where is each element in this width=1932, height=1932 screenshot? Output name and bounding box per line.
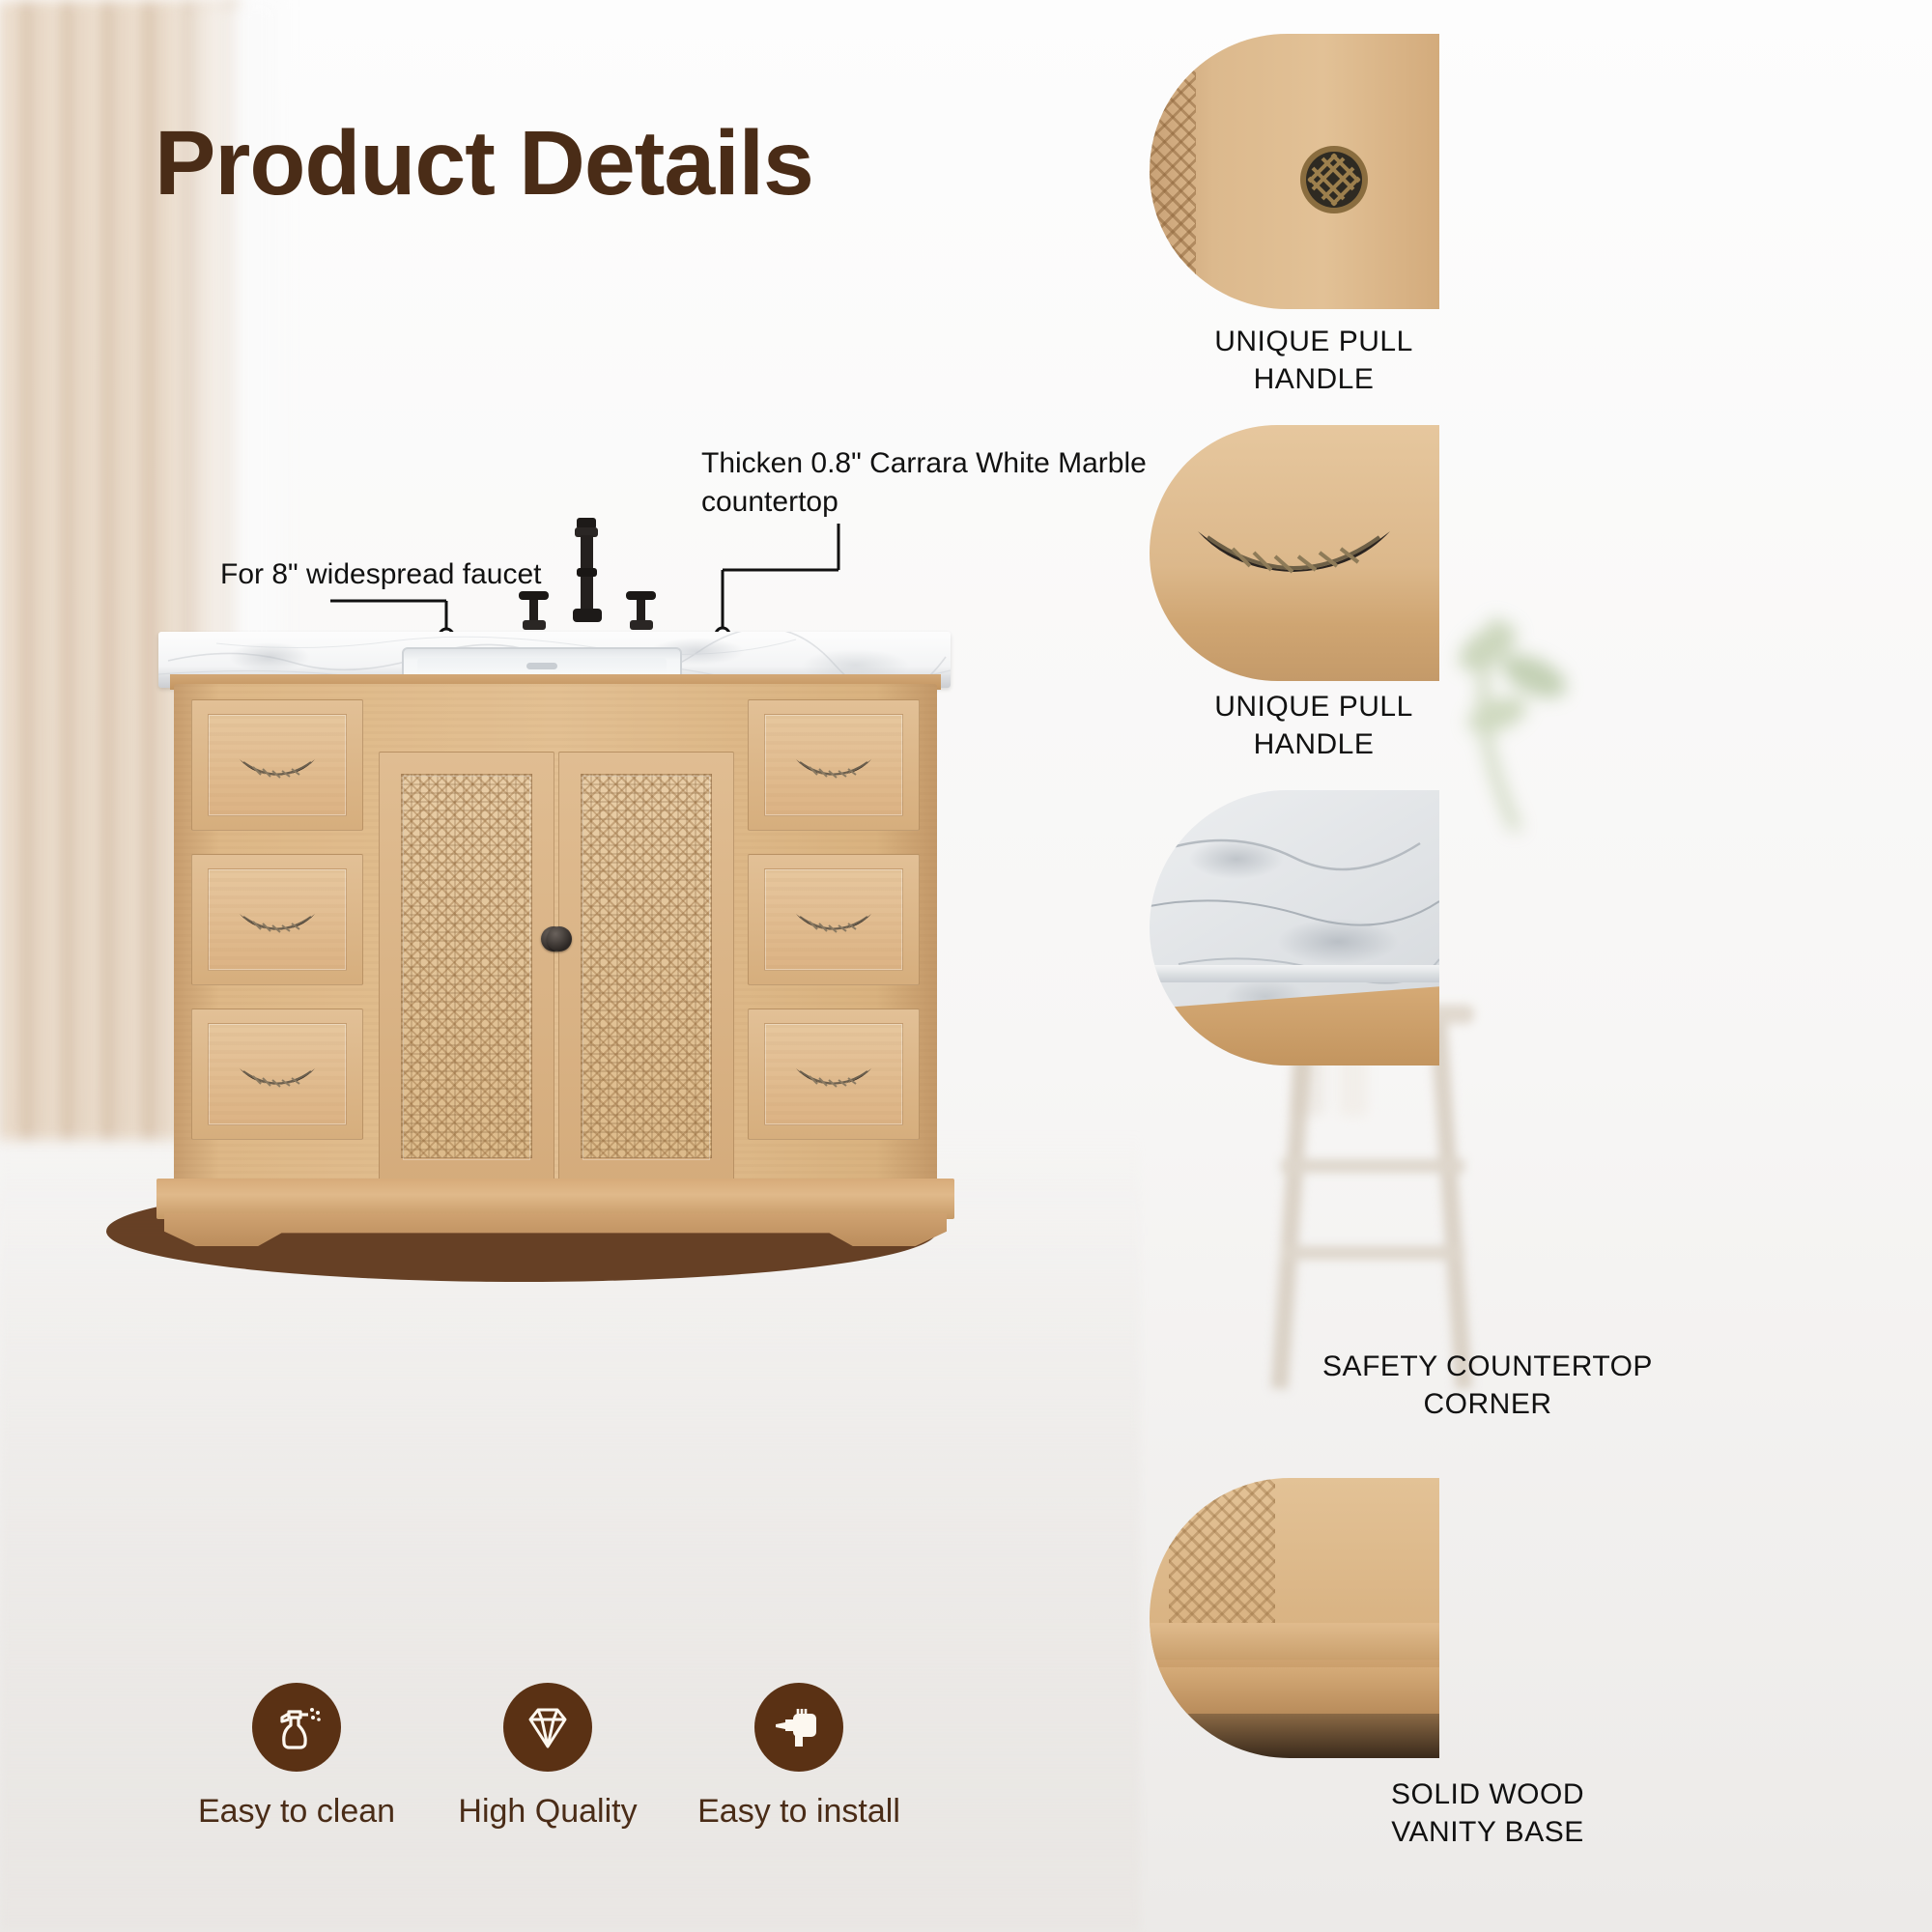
detail-label-knob: UNIQUE PULL HANDLE <box>1150 323 1478 398</box>
callout-label-countertop: Thicken 0.8" Carrara White Marble counte… <box>701 444 1155 521</box>
cup-pull-handle-icon[interactable] <box>236 753 319 786</box>
page-title: Product Details <box>155 118 813 210</box>
feature-easy-to-install: Easy to install <box>688 1683 910 1831</box>
drawer-right-1[interactable] <box>748 699 920 831</box>
feature-high-quality: High Quality <box>437 1683 659 1831</box>
detail-label-vanity-base: SOLID WOOD VANITY BASE <box>1101 1776 1874 1851</box>
cup-pull-handle-icon <box>1190 520 1398 595</box>
cup-pull-handle-icon[interactable] <box>792 908 875 941</box>
door-bevel <box>573 766 720 1170</box>
feature-label: Easy to clean <box>185 1793 408 1831</box>
detail-label-countertop-corner: SAFETY COUNTERTOP CORNER <box>1101 1348 1874 1423</box>
feature-label: Easy to install <box>688 1793 910 1831</box>
cup-pull-handle-icon[interactable] <box>792 1063 875 1095</box>
detail-label-cup-pull: UNIQUE PULL HANDLE <box>1150 688 1478 763</box>
faucet <box>517 510 662 636</box>
feature-easy-to-clean: Easy to clean <box>185 1683 408 1831</box>
drawer-left-1[interactable] <box>191 699 363 831</box>
feature-label: High Quality <box>437 1793 659 1831</box>
feature-icon-circle <box>503 1683 592 1772</box>
detail-image-countertop-corner <box>1150 790 1439 1065</box>
cabinet-door-left[interactable] <box>379 752 554 1198</box>
door-bevel <box>393 766 540 1170</box>
drawer-right-2[interactable] <box>748 854 920 985</box>
spray-bottle-icon <box>270 1700 324 1754</box>
feature-icon-circle <box>754 1683 843 1772</box>
feature-icon-circle <box>252 1683 341 1772</box>
detail-image-vanity-base <box>1150 1478 1439 1758</box>
detail-image-cup-pull <box>1150 425 1439 681</box>
product-vanity <box>145 626 961 1273</box>
cup-pull-handle-icon[interactable] <box>236 908 319 941</box>
drawer-left-2[interactable] <box>191 854 363 985</box>
cabinet-body <box>174 684 937 1181</box>
diamond-icon <box>521 1700 575 1754</box>
cabinet-door-right[interactable] <box>558 752 734 1198</box>
cup-pull-handle-icon[interactable] <box>792 753 875 786</box>
drawer-left-3[interactable] <box>191 1009 363 1140</box>
cup-pull-handle-icon[interactable] <box>236 1063 319 1095</box>
sink-overflow <box>526 663 557 669</box>
drill-icon <box>772 1700 826 1754</box>
vanity-base-foot <box>164 1213 947 1246</box>
round-woven-knob-icon <box>1299 145 1369 214</box>
detail-image-knob <box>1150 34 1439 309</box>
door-knob-right[interactable] <box>547 926 572 952</box>
drawer-right-3[interactable] <box>748 1009 920 1140</box>
vanity-plinth <box>156 1179 954 1219</box>
